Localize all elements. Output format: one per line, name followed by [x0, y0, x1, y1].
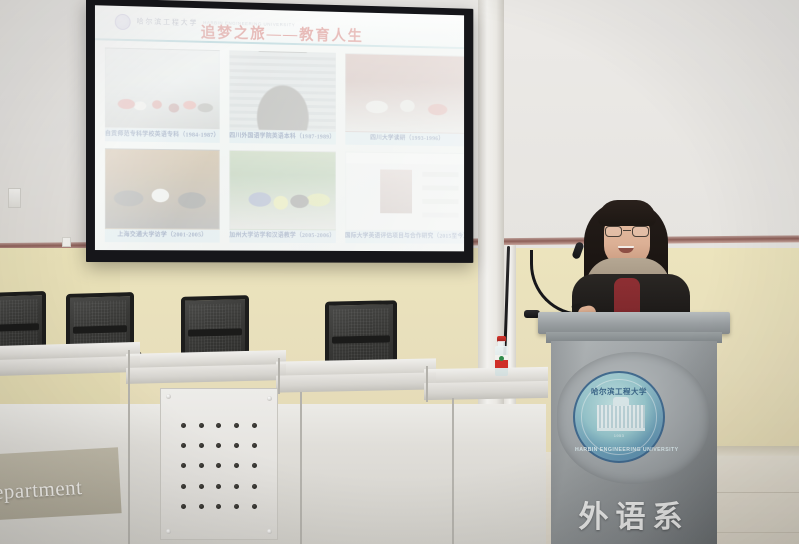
desk-panel-seam	[452, 398, 454, 544]
slide-photo-cell: 四川大学读研（1993-1996）	[345, 53, 464, 146]
lecture-hall-photo: 哈尔滨工程大学 HARBIN ENGINEERING UNIVERSITY 追梦…	[0, 0, 799, 544]
chair-lumbar-bar	[332, 336, 390, 344]
podium-department-text: 外语系	[551, 492, 717, 536]
projection-screen: 哈尔滨工程大学 HARBIN ENGINEERING UNIVERSITY 追梦…	[86, 0, 473, 263]
desk-front-edge	[424, 381, 548, 400]
eyeglasses-icon	[604, 226, 650, 237]
wall-sign-text: epartment	[0, 475, 83, 505]
photo-6	[345, 151, 464, 231]
wall-light-switch[interactable]	[8, 188, 21, 208]
slide-photo-grid: 自贡师范专科学校英语专科（1984-1987） 四川外国语学院英语本科（1987…	[105, 47, 455, 243]
bottle-logo-icon	[499, 356, 504, 361]
desk-seam	[278, 358, 280, 394]
slide-photo-cell: 加州大学访学和汉语教学（2005-2006）	[229, 150, 335, 243]
desk-seam	[128, 350, 130, 384]
photo-caption: 上海交通大学访学（2001-2005）	[105, 229, 220, 242]
emblem-building-icon	[597, 405, 645, 431]
perforated-service-panel	[160, 388, 278, 540]
slide-photo-cell: 上海交通大学访学（2001-2005）	[105, 148, 220, 242]
slide-photo-cell: 四川外国语学院英语本科（1987-1989）	[229, 50, 335, 144]
university-emblem-icon: 哈尔滨工程大学 1953 HARBIN ENGINEERING UNIVERSI…	[573, 371, 665, 463]
photo-caption: 加州大学访学和汉语教学（2005-2006）	[229, 230, 335, 243]
desk-front-edge	[276, 372, 436, 392]
wall-socket	[62, 237, 71, 247]
projection-surface: 哈尔滨工程大学 HARBIN ENGINEERING UNIVERSITY 追梦…	[95, 5, 464, 251]
desk-panel-seam	[128, 384, 130, 544]
slide-photo-cell: 国际大学英语评估项目与合作研究（2015至今）	[345, 151, 464, 243]
photo-caption: 自贡师范专科学校英语专科（1984-1987）	[105, 128, 220, 143]
photo-2	[229, 50, 335, 132]
panel-screw	[166, 529, 171, 534]
panel-screw	[267, 529, 272, 534]
speaker-fringe	[598, 200, 656, 226]
photo-5	[229, 150, 335, 230]
photo-3	[345, 53, 464, 134]
emblem-university-en: HARBIN ENGINEERING UNIVERSITY	[575, 447, 663, 453]
podium-top	[538, 312, 730, 334]
chair-lumbar-bar	[188, 328, 242, 336]
photo-1	[105, 47, 220, 130]
panel-screw	[267, 396, 272, 401]
photo-caption: 国际大学英语评估项目与合作研究（2015至今）	[345, 230, 464, 243]
photo-4	[105, 148, 220, 229]
water-bottle[interactable]	[494, 336, 509, 376]
photo-caption: 四川外国语学院英语本科（1987-1989）	[229, 130, 335, 144]
panel-hole-grid	[175, 415, 263, 517]
presentation-slide: 哈尔滨工程大学 HARBIN ENGINEERING UNIVERSITY 追梦…	[95, 5, 464, 251]
photo-caption: 四川大学读研（1993-1996）	[345, 132, 464, 146]
slide-photo-cell: 自贡师范专科学校英语专科（1984-1987）	[105, 47, 220, 142]
desk-seam	[426, 366, 428, 402]
panel-screw	[166, 394, 171, 399]
emblem-year: 1953	[575, 433, 663, 438]
desk-panel-seam	[300, 392, 302, 544]
emblem-university-cn: 哈尔滨工程大学	[575, 386, 663, 397]
